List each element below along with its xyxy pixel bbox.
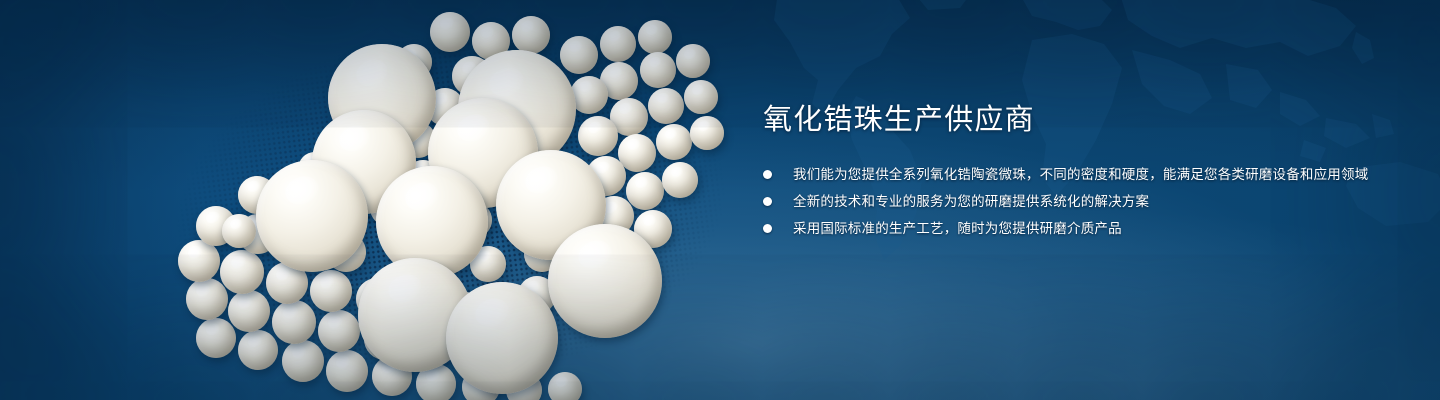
- bullet-dot-icon: [763, 197, 772, 206]
- bullet-dot-icon: [763, 170, 772, 179]
- banner-copy: 氧化锆珠生产供应商 我们能为您提供全系列氧化锆陶瓷微珠，不同的密度和硬度，能满足…: [763, 104, 1383, 240]
- feature-list: 我们能为您提供全系列氧化锆陶瓷微珠，不同的密度和硬度，能满足您各类研磨设备和应用…: [763, 163, 1383, 240]
- page-title: 氧化锆珠生产供应商: [763, 104, 1383, 137]
- list-item-text: 我们能为您提供全系列氧化锆陶瓷微珠，不同的密度和硬度，能满足您各类研磨设备和应用…: [793, 167, 1368, 182]
- list-item: 全新的技术和专业的服务为您的研磨提供系统化的解决方案: [763, 190, 1383, 213]
- list-item-text: 全新的技术和专业的服务为您的研磨提供系统化的解决方案: [793, 194, 1149, 209]
- list-item-text: 采用国际标准的生产工艺，随时为您提供研磨介质产品: [793, 221, 1122, 236]
- list-item: 我们能为您提供全系列氧化锆陶瓷微珠，不同的密度和硬度，能满足您各类研磨设备和应用…: [763, 163, 1383, 186]
- list-item: 采用国际标准的生产工艺，随时为您提供研磨介质产品: [763, 217, 1383, 240]
- hero-banner: 氧化锆珠生产供应商 我们能为您提供全系列氧化锆陶瓷微珠，不同的密度和硬度，能满足…: [0, 0, 1440, 400]
- bullet-dot-icon: [763, 224, 772, 233]
